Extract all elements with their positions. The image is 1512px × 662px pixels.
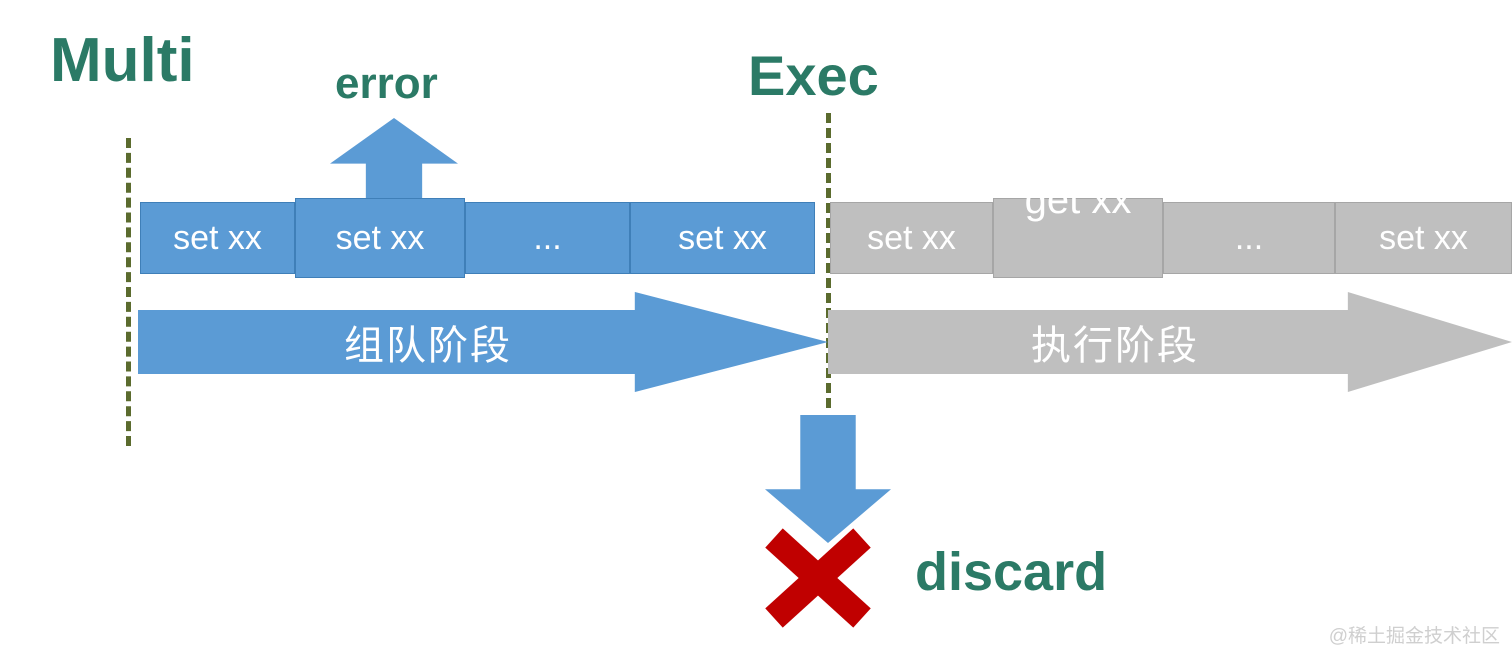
queue-phase-arrow: 组队阶段	[138, 292, 828, 392]
watermark: @稀土掘金技术社区	[1329, 621, 1500, 648]
discard-down-arrow-icon	[765, 415, 891, 543]
queue-command-box: ...	[465, 202, 630, 274]
queue-command-label: ...	[533, 221, 561, 255]
exec-command-box: get xx	[993, 198, 1163, 278]
diagram-canvas: Multi Exec error discard set xx set xx .…	[0, 0, 1512, 662]
queue-phase-command-row: set xx set xx ... set xx	[140, 202, 815, 274]
queue-command-label: set xx	[678, 221, 767, 255]
exec-command-box: set xx	[1335, 202, 1512, 274]
queue-command-label: set xx	[173, 221, 262, 255]
queue-command-label: set xx	[336, 221, 425, 255]
exec-phase-arrow: 执行阶段	[828, 292, 1512, 392]
queue-command-box: set xx	[295, 198, 465, 278]
exec-label: Exec	[748, 48, 879, 104]
queue-command-box: set xx	[140, 202, 295, 274]
exec-command-label: get xx	[994, 181, 1162, 219]
exec-phase-command-row: set xx get xx ... set xx	[830, 202, 1512, 274]
exec-command-label: set xx	[1379, 221, 1468, 255]
multi-boundary-dashed-line	[126, 138, 131, 446]
exec-phase-arrow-label: 执行阶段	[1031, 313, 1199, 371]
queue-phase-arrow-label: 组队阶段	[344, 313, 512, 371]
exec-command-box: ...	[1163, 202, 1335, 274]
exec-command-label: set xx	[867, 221, 956, 255]
exec-command-label: ...	[1235, 221, 1263, 255]
discard-label: discard	[915, 545, 1107, 599]
exec-command-box: set xx	[830, 202, 993, 274]
red-x-icon	[762, 528, 874, 628]
multi-label: Multi	[50, 30, 195, 92]
queue-command-box: set xx	[630, 202, 815, 274]
error-label: error	[335, 62, 438, 106]
